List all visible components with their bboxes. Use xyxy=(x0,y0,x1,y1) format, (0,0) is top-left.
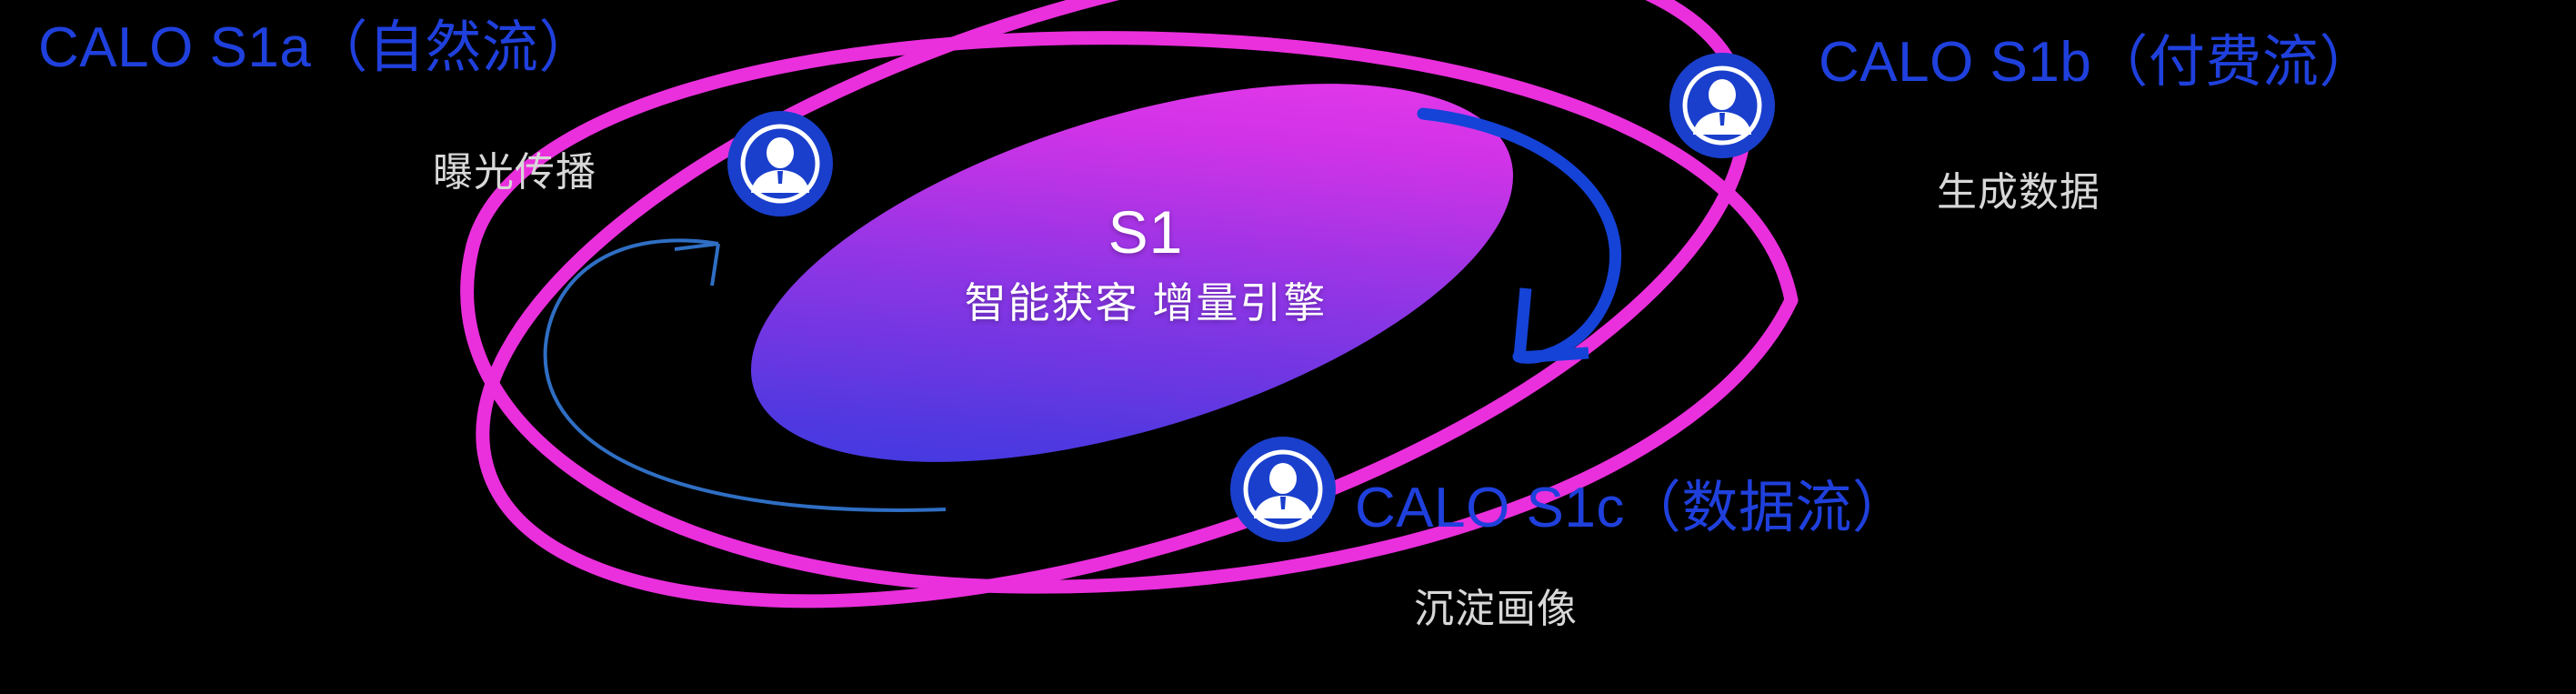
label-s1b-title: CALO S1b（付费流） xyxy=(1819,35,2376,91)
core-tagline: 智能获客 增量引擎 xyxy=(837,282,1455,324)
label-s1b-subtitle: 生成数据 xyxy=(1937,173,2100,213)
node-s1a[interactable] xyxy=(727,111,833,216)
label-s1c-subtitle: 沉淀画像 xyxy=(1414,589,1578,629)
core-title: S1 xyxy=(946,202,1346,262)
diagram-canvas: S1 智能获客 增量引擎 CALO S1a（自然流） 曝光传播 CALO S1b… xyxy=(0,0,2576,694)
node-s1b[interactable] xyxy=(1669,53,1775,158)
label-s1a-title: CALO S1a（自然流） xyxy=(38,20,596,76)
label-s1a-subtitle: 曝光传播 xyxy=(433,153,596,193)
node-s1c[interactable] xyxy=(1230,437,1336,542)
orbit-diagram xyxy=(0,0,2576,694)
label-s1c-title: CALO S1c（数据流） xyxy=(1355,480,1909,537)
